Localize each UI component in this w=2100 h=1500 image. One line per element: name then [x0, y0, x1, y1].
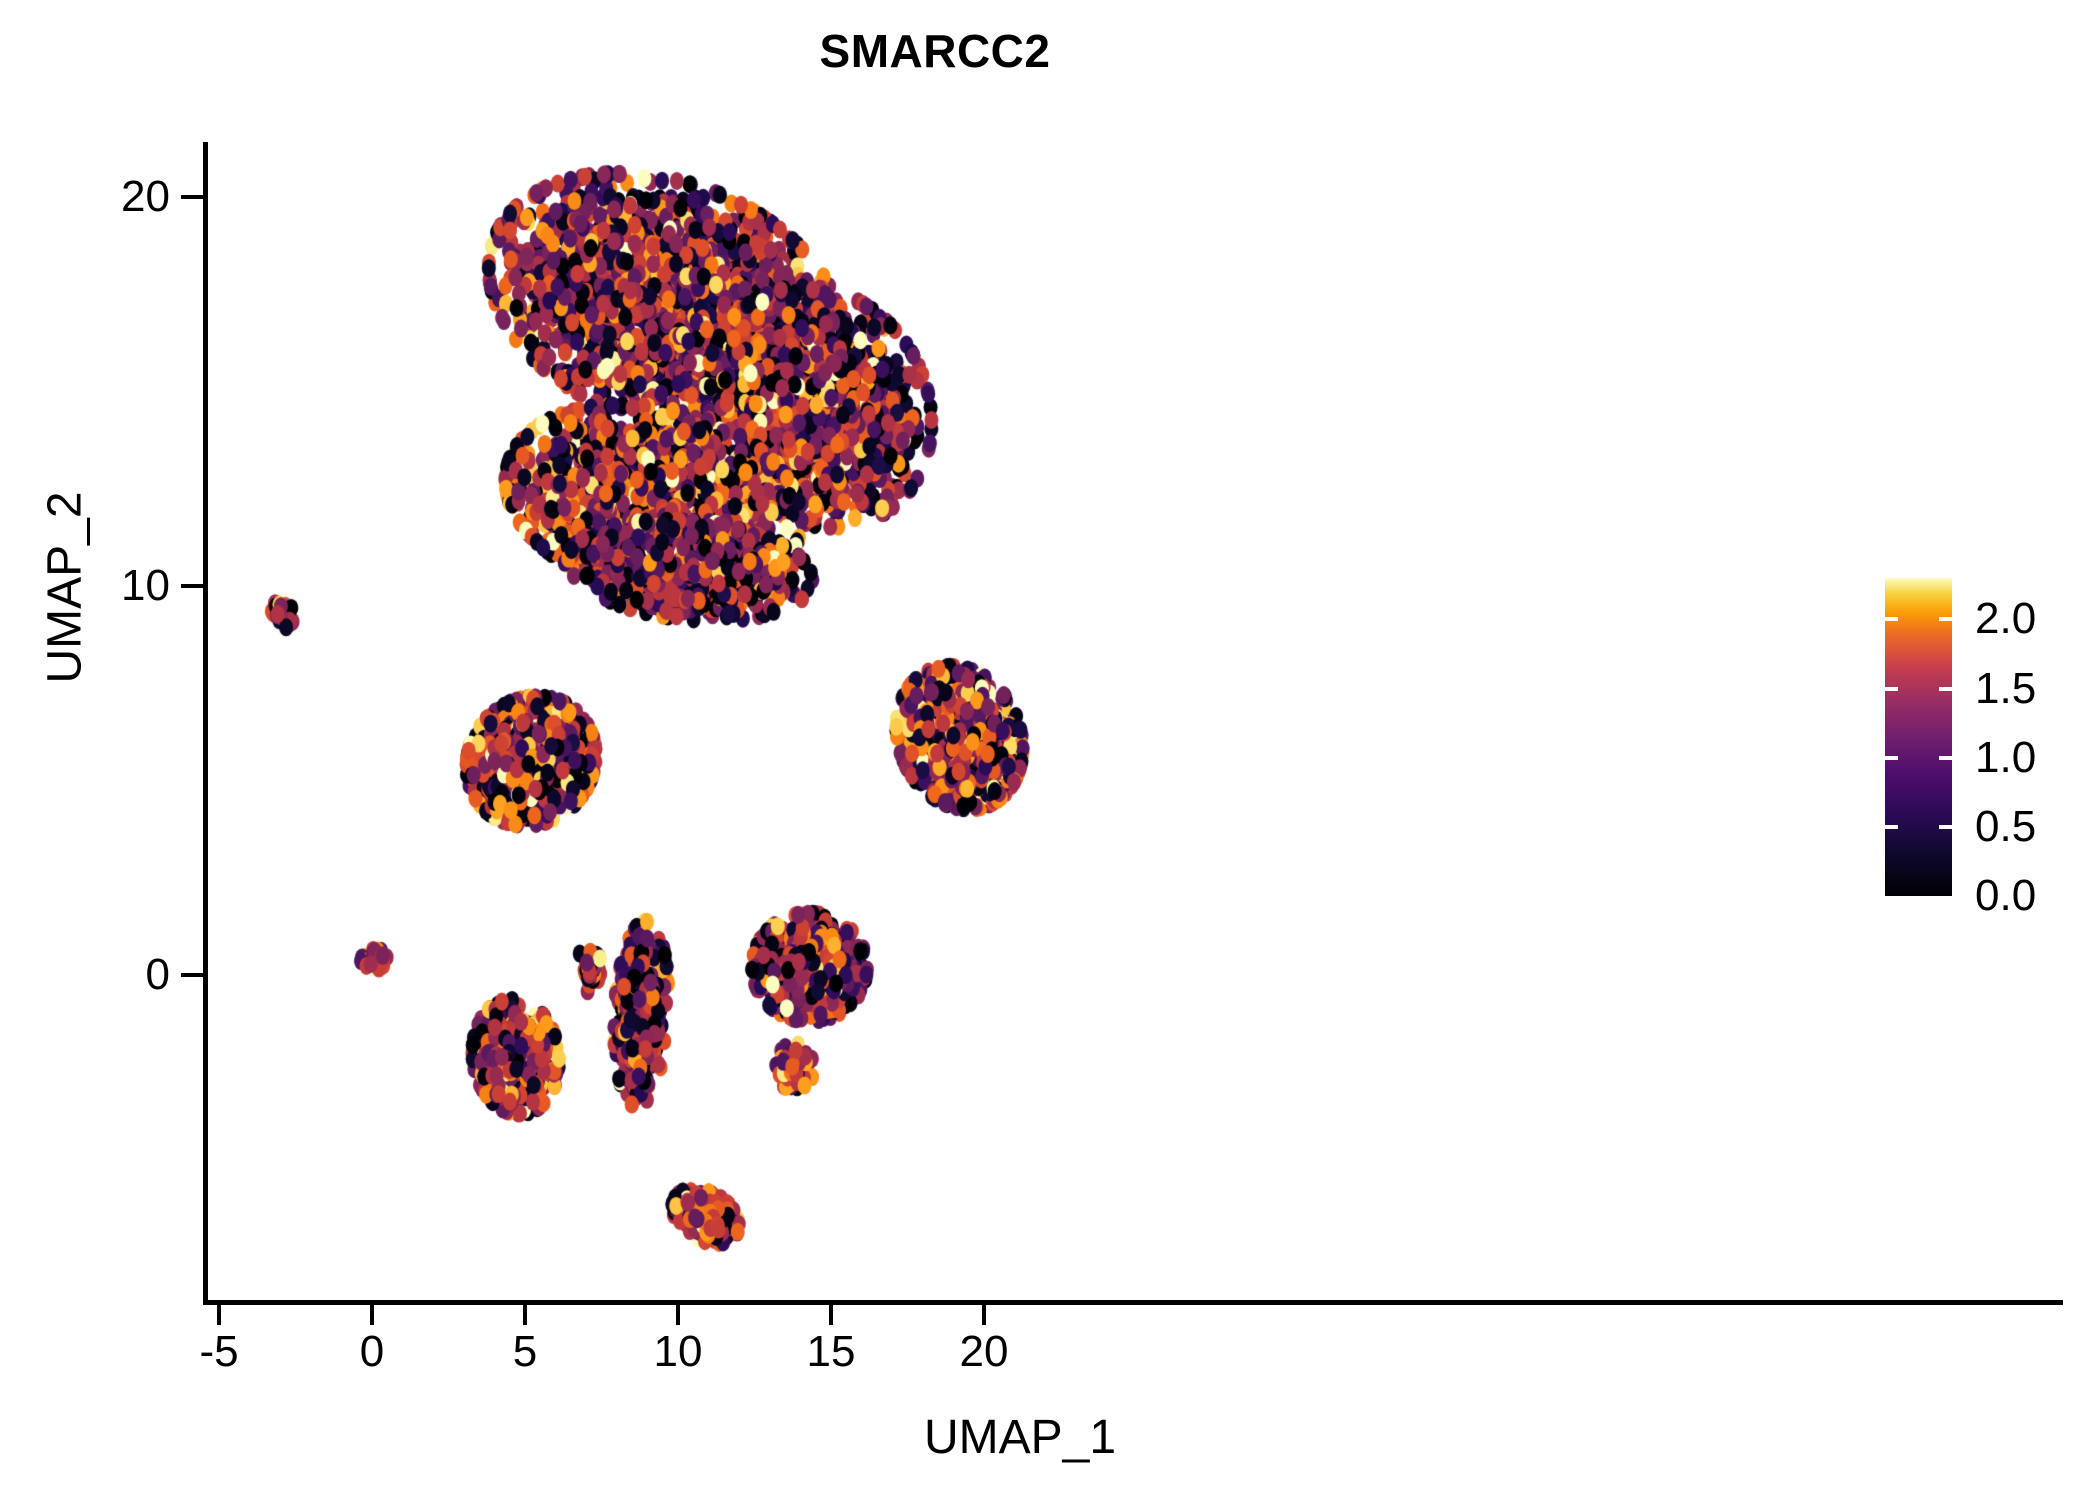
x-axis-label: UMAP_1: [205, 1410, 1835, 1465]
x-tick-mark: [370, 1305, 374, 1325]
x-tick-mark: [829, 1305, 833, 1325]
colorbar-tick-mark: [1939, 687, 1952, 691]
x-axis-line: [203, 1300, 2063, 1305]
colorbar-tick-label: 0.5: [1975, 805, 2036, 849]
y-tick-mark: [181, 973, 203, 977]
y-tick-mark: [181, 195, 203, 199]
colorbar-tick-mark: [1939, 617, 1952, 621]
colorbar-tick-mark: [1885, 825, 1898, 829]
colorbar-tick-mark: [1939, 825, 1952, 829]
x-tick-mark: [982, 1305, 986, 1325]
y-tick-mark: [181, 584, 203, 588]
y-tick-label: 20: [0, 175, 170, 219]
colorbar-tick-label: 1.5: [1975, 667, 2036, 711]
colorbar-tick-mark: [1885, 617, 1898, 621]
x-tick-mark: [676, 1305, 680, 1325]
colorbar-tick-label: 0.0: [1975, 874, 2036, 918]
y-axis-line: [203, 142, 208, 1304]
umap-feature-plot: SMARCC2 -505101520 01020 UMAP_1 UMAP_2 2…: [0, 0, 2100, 1500]
x-tick-label: -5: [199, 1330, 238, 1374]
colorbar-tick-mark: [1939, 756, 1952, 760]
x-tick-mark: [523, 1305, 527, 1325]
x-tick-label: 5: [513, 1330, 537, 1374]
scatter-plot-canvas: [0, 0, 2100, 1500]
color-legend: 2.01.51.00.50.0: [1885, 578, 1952, 896]
y-tick-label: 0: [0, 953, 170, 997]
x-tick-label: 0: [360, 1330, 384, 1374]
x-tick-label: 10: [654, 1330, 703, 1374]
x-tick-label: 15: [807, 1330, 856, 1374]
colorbar-gradient: [1885, 578, 1952, 896]
colorbar-tick-label: 2.0: [1975, 597, 2036, 641]
colorbar-tick-label: 1.0: [1975, 736, 2036, 780]
x-tick-mark: [217, 1305, 221, 1325]
x-tick-label: 20: [960, 1330, 1009, 1374]
colorbar-tick-mark: [1885, 687, 1898, 691]
colorbar-tick-mark: [1885, 756, 1898, 760]
y-axis-label: UMAP_2: [38, 308, 93, 868]
